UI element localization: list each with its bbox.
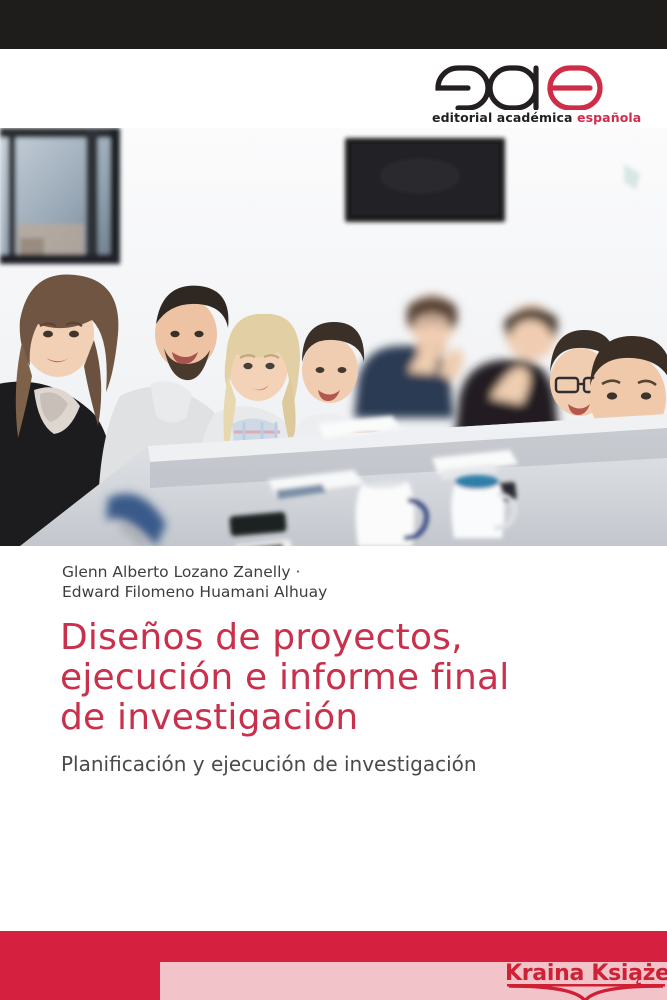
title-line-2: ejecución e informe final <box>60 658 640 698</box>
eae-logo-mark <box>432 58 608 110</box>
open-book-icon <box>505 984 667 1000</box>
book-cover: editorial académica española <box>0 0 667 1000</box>
cover-photograph <box>0 128 667 546</box>
publisher-name-dark: editorial académica <box>432 110 573 125</box>
publisher-name-red: española <box>577 110 641 125</box>
book-subtitle: Planificación y ejecución de investigaci… <box>61 751 641 777</box>
watermark-logo: Kraina Książek <box>505 960 667 1000</box>
top-dark-band <box>0 0 667 49</box>
title-line-3: de investigación <box>60 698 640 738</box>
publisher-name: editorial académica española <box>432 110 608 125</box>
publisher-logo: editorial académica española <box>432 58 608 130</box>
watermark-text: Kraina Książek <box>505 961 667 986</box>
book-title: Diseños de proyectos, ejecución e inform… <box>60 618 640 738</box>
title-line-1: Diseños de proyectos, <box>60 618 640 658</box>
author-line-1: Glenn Alberto Lozano Zanelly · <box>62 562 622 582</box>
author-names: Glenn Alberto Lozano Zanelly · Edward Fi… <box>62 562 622 602</box>
author-line-2: Edward Filomeno Huamani Alhuay <box>62 582 622 602</box>
